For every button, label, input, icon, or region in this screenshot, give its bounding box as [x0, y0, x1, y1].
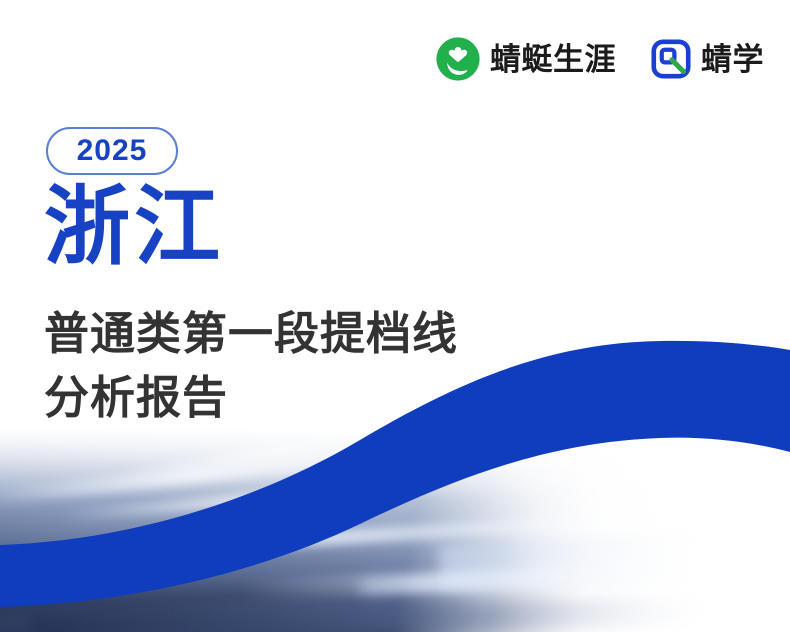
brand-logo-row: 蜻蜓生涯 蜻学 — [435, 36, 764, 82]
year-badge: 2025 — [46, 127, 178, 175]
poster-canvas: 蜻蜓生涯 蜻学 2025 浙江 普通类第一段提档线 分析报告 — [0, 0, 790, 632]
year-badge-label: 2025 — [77, 136, 148, 166]
logo-wordmark-dragonfly: 蜻蜓生涯 — [490, 44, 616, 75]
background-photo-documents — [0, 430, 790, 632]
page-subtitle-report: 普通类第一段提档线 分析报告 — [44, 302, 458, 430]
green-circle-flower-icon — [435, 36, 481, 82]
blue-q-square-icon — [650, 38, 692, 80]
logo-wordmark-qingxue: 蜻学 — [701, 44, 764, 75]
photo-right-fade — [490, 430, 790, 632]
logo-dragonfly-career: 蜻蜓生涯 — [435, 36, 616, 82]
page-title-province: 浙江 — [44, 182, 224, 272]
logo-qingxue: 蜻学 — [650, 38, 764, 80]
